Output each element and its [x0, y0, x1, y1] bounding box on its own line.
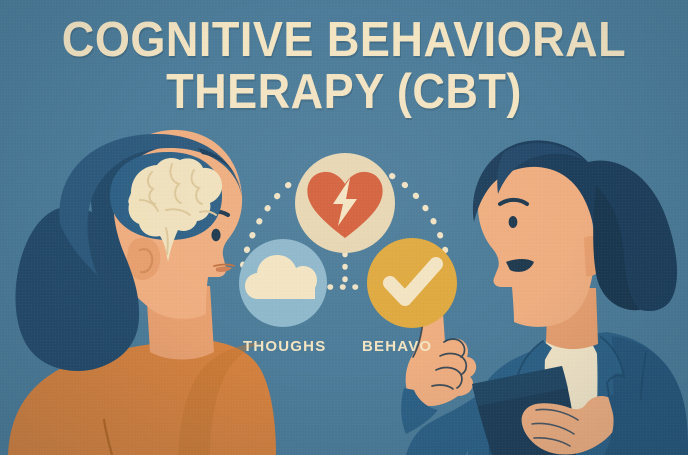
illustration-canvas [0, 0, 688, 455]
client-eye [211, 229, 220, 241]
node-emotions[interactable] [295, 153, 395, 253]
behavior-label: BEHAVO [362, 338, 432, 355]
thoughts-label: THOUGHS [243, 338, 326, 355]
therapist-eye [509, 216, 518, 228]
cbt-poster: COGNITIVE BEHAVIORAL THERAPY (CBT) THOUG… [0, 0, 688, 455]
node-behavior[interactable] [367, 238, 457, 328]
node-thoughts[interactable] [239, 239, 327, 327]
